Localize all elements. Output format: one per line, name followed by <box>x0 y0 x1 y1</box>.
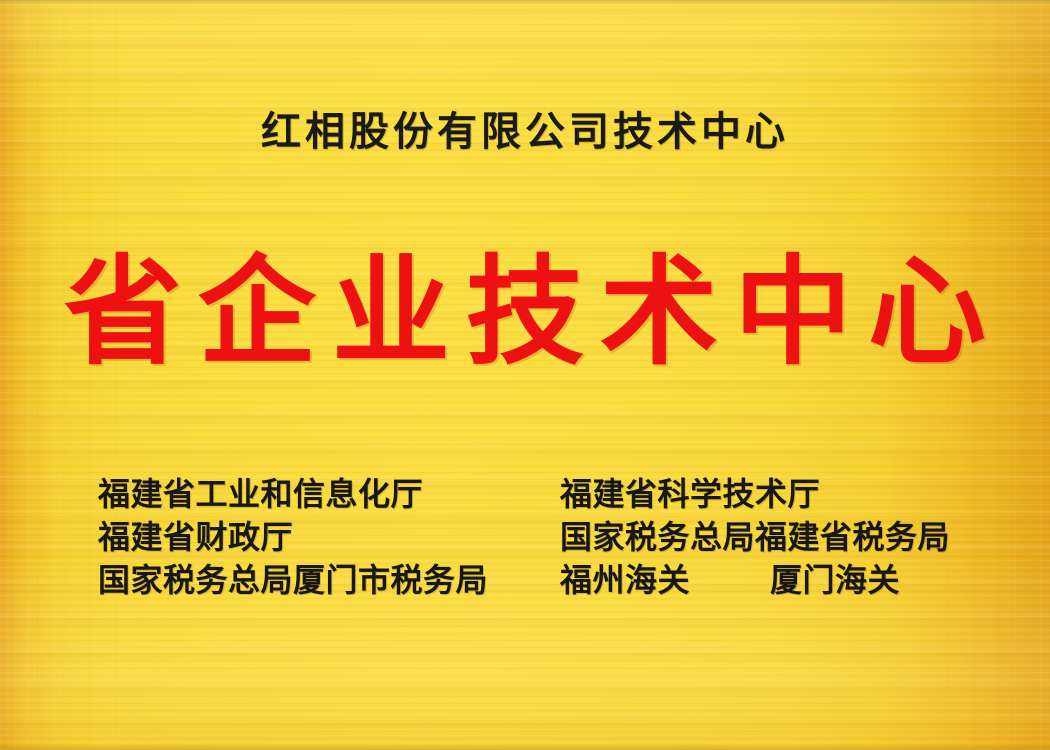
authority-right-secondary: 厦门海关 <box>770 564 900 596</box>
authority-row: 国家税务总局厦门市税务局 福州海关 厦门海关 <box>98 564 988 607</box>
plaque-content: 红相股份有限公司技术中心 省企业技术中心 福建省工业和信息化厅 福建省科学技术厅… <box>0 0 1050 750</box>
authority-right-group: 福建省科学技术厅 <box>560 478 988 510</box>
authority-row: 福建省财政厅 国家税务总局福建省税务局 <box>98 521 988 564</box>
organization-title: 红相股份有限公司技术中心 <box>0 112 1050 152</box>
authority-row: 福建省工业和信息化厅 福建省科学技术厅 <box>98 478 988 521</box>
authority-right-primary: 福州海关 <box>560 564 770 596</box>
issuing-authorities: 福建省工业和信息化厅 福建省科学技术厅 福建省财政厅 国家税务总局福建省税务局 … <box>98 478 988 607</box>
authority-right-primary: 国家税务总局福建省税务局 <box>560 521 950 553</box>
award-plaque: 红相股份有限公司技术中心 省企业技术中心 福建省工业和信息化厅 福建省科学技术厅… <box>0 0 1050 750</box>
authority-right-primary: 福建省科学技术厅 <box>560 478 820 510</box>
award-headline: 省企业技术中心 <box>0 252 1050 372</box>
authority-right-group: 国家税务总局福建省税务局 <box>560 521 988 553</box>
authority-left: 福建省财政厅 <box>98 521 560 553</box>
authority-left: 福建省工业和信息化厅 <box>98 478 560 510</box>
authority-left: 国家税务总局厦门市税务局 <box>98 564 560 596</box>
authority-right-group: 福州海关 厦门海关 <box>560 564 988 596</box>
